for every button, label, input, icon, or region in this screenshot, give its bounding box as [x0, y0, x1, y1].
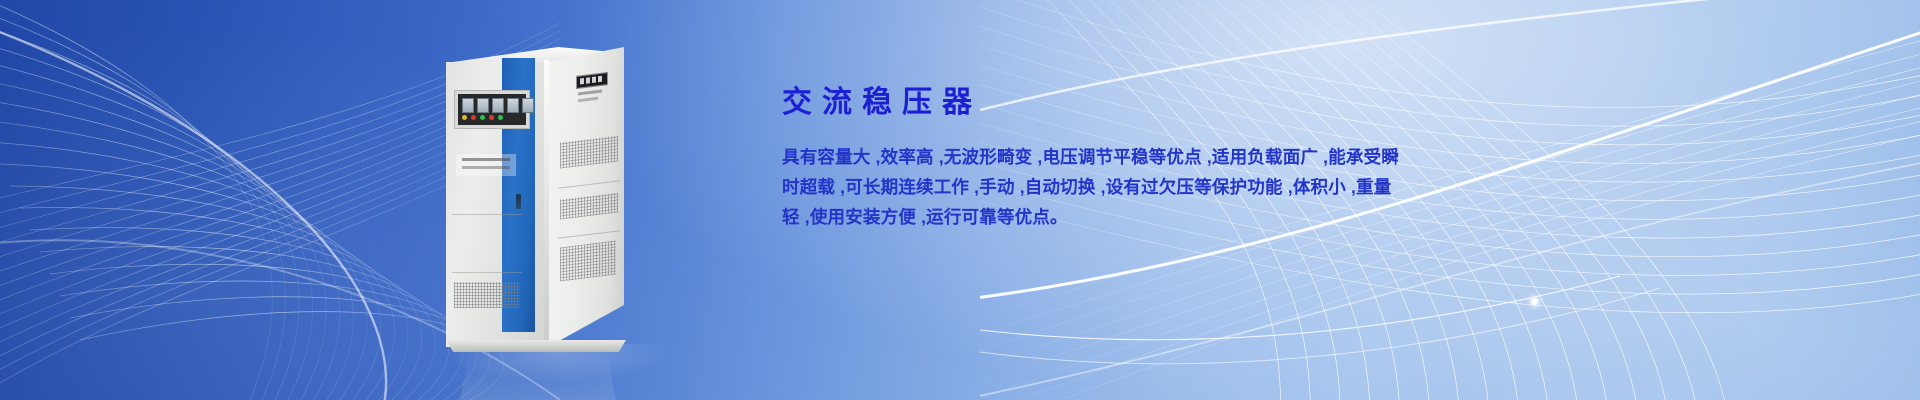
- display-segment: [598, 76, 602, 82]
- cabinet: [438, 44, 668, 374]
- highlight-dot: [1531, 298, 1538, 305]
- description-line: 时超载 ,可长期连续工作 ,手动 ,自动切换 ,设有过欠压等保护功能 ,体积小 …: [782, 172, 1442, 202]
- nameplate-line: [462, 166, 510, 169]
- nameplate-line: [462, 158, 510, 161]
- gauge-meter: [507, 98, 519, 113]
- ventilation-grille: [560, 241, 616, 282]
- gauge-meter: [522, 98, 534, 113]
- product-image-voltage-stabilizer: [438, 44, 668, 374]
- page-title: 交流稳压器: [782, 88, 1442, 118]
- product-description: 具有容量大 ,效率高 ,无波形畸变 ,电压调节平稳等优点 ,适用负载面广 ,能承…: [782, 142, 1442, 232]
- description-line: 轻 ,使用安装方便 ,运行可靠等优点。: [782, 202, 1442, 232]
- display-segments: [580, 76, 602, 85]
- panel-seam: [452, 214, 522, 215]
- control-panel: [454, 90, 530, 129]
- gauge-meter: [492, 98, 504, 113]
- cabinet-floor-reflection: [448, 350, 628, 400]
- banner-copy: 交流稳压器 具有容量大 ,效率高 ,无波形畸变 ,电压调节平稳等优点 ,适用负载…: [782, 88, 1442, 232]
- description-line: 具有容量大 ,效率高 ,无波形畸变 ,电压调节平稳等优点 ,适用负载面广 ,能承…: [782, 142, 1442, 172]
- indicator-lamp-row: [462, 115, 503, 120]
- display-segment: [592, 77, 596, 83]
- control-panel-face: [458, 94, 526, 125]
- indicator-lamp: [462, 115, 467, 120]
- cabinet-door-handle: [516, 194, 521, 209]
- gauge-meter: [477, 98, 489, 113]
- panel-seam: [452, 272, 522, 273]
- display-segment: [580, 78, 584, 84]
- cabinet-corner-edge: [544, 60, 549, 348]
- indicator-lamp: [489, 115, 494, 120]
- gauge-meter: [462, 98, 474, 113]
- product-banner: 交流稳压器 具有容量大 ,效率高 ,无波形畸变 ,电压调节平稳等优点 ,适用负载…: [0, 0, 1920, 400]
- indicator-lamp: [480, 115, 485, 120]
- ventilation-grille: [454, 282, 520, 308]
- gauge-row: [462, 98, 534, 113]
- display-segment: [586, 77, 590, 83]
- cabinet-nameplate: [456, 154, 516, 176]
- indicator-lamp: [498, 115, 503, 120]
- indicator-lamp: [471, 115, 476, 120]
